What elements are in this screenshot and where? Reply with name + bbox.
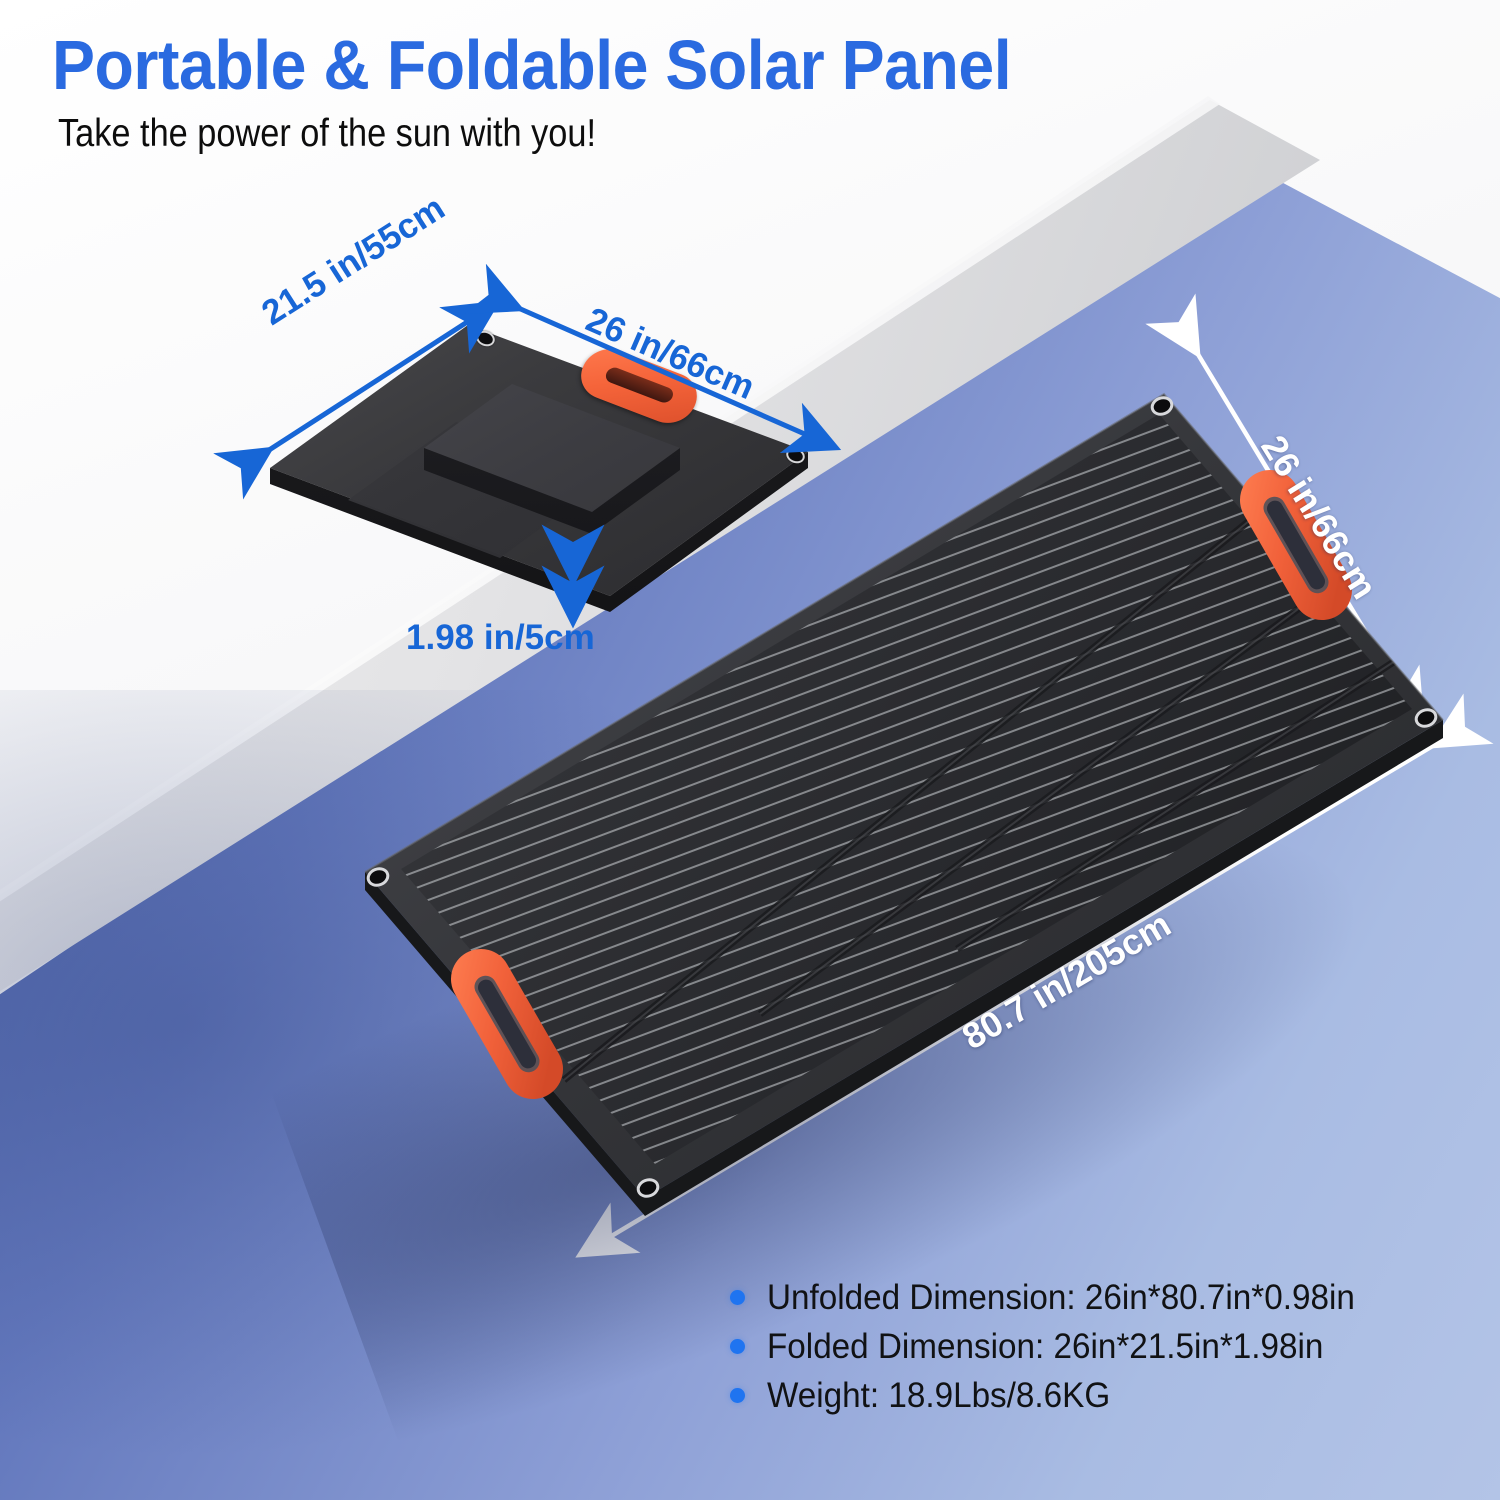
unfolded-panel-illustration — [0, 0, 1500, 1500]
list-item: Folded Dimension: 26in*21.5in*1.98in — [730, 1329, 1490, 1364]
bullet-dot-icon — [730, 1339, 745, 1354]
list-item: Unfolded Dimension: 26in*80.7in*0.98in — [730, 1280, 1490, 1315]
infographic-canvas: Portable & Foldable Solar Panel Take the… — [0, 0, 1500, 1500]
list-item: Weight: 18.9Lbs/8.6KG — [730, 1378, 1490, 1413]
unfolded-panel-graphic — [0, 0, 1500, 1500]
bullet-dot-icon — [730, 1388, 745, 1403]
spec-unfolded-dimension: Unfolded Dimension: 26in*80.7in*0.98in — [767, 1280, 1355, 1315]
spec-folded-dimension: Folded Dimension: 26in*21.5in*1.98in — [767, 1329, 1323, 1364]
bullet-dot-icon — [730, 1290, 745, 1305]
spec-list: Unfolded Dimension: 26in*80.7in*0.98in F… — [730, 1280, 1490, 1427]
spec-weight: Weight: 18.9Lbs/8.6KG — [767, 1378, 1110, 1413]
